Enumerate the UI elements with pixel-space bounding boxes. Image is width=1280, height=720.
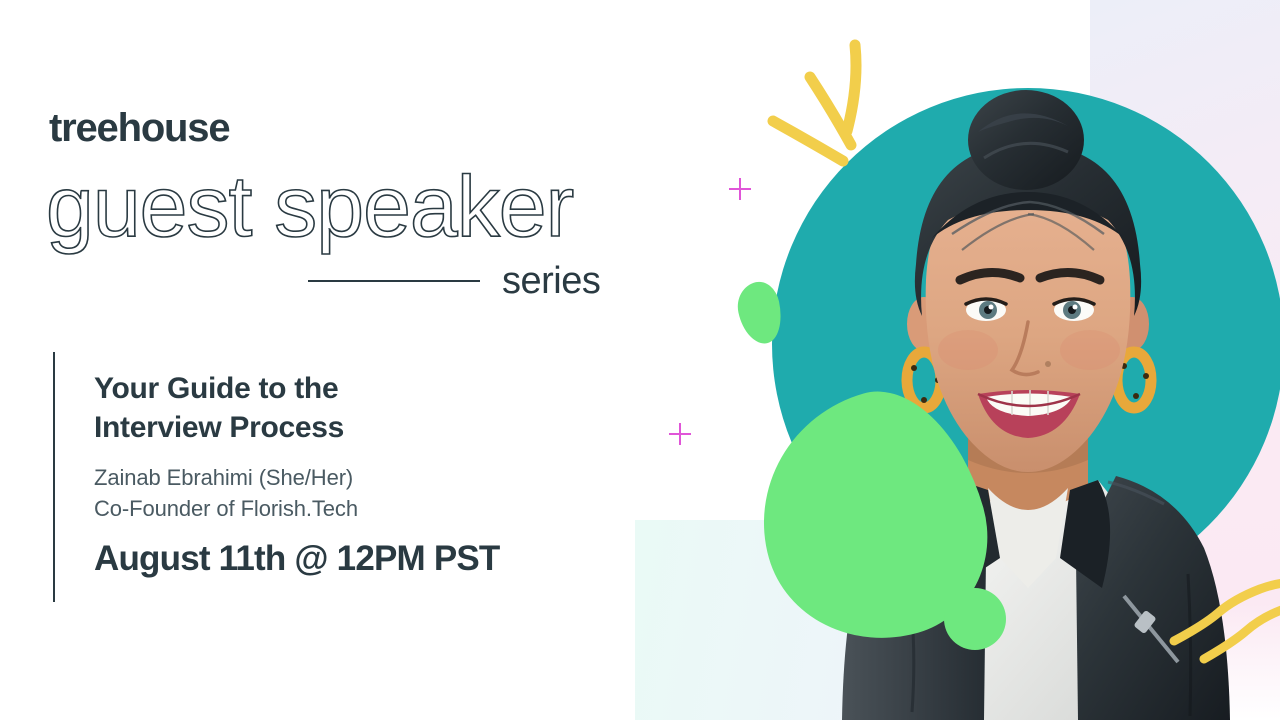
series-divider-rule: [308, 280, 480, 282]
brand-wordmark: treehouse: [49, 108, 229, 148]
talk-title: Your Guide to the Interview Process: [94, 369, 500, 447]
session-info-text: Your Guide to the Interview Process Zain…: [55, 352, 500, 602]
session-info-block: Your Guide to the Interview Process Zain…: [53, 352, 500, 602]
event-datetime: August 11th @ 12PM PST: [94, 540, 500, 579]
series-label-row: series: [308, 258, 638, 304]
headline-outline-text: guest speaker: [40, 158, 660, 258]
svg-text:guest speaker: guest speaker: [46, 159, 574, 255]
guest-speaker-promo-graphic: treehouse guest speaker series Your Guid…: [0, 0, 1280, 720]
plus-cross-icon-top: [729, 178, 751, 200]
sparkle-burst-icon: [755, 35, 895, 175]
speaker-role: Co-Founder of Florish.Tech: [94, 493, 500, 524]
green-circle-shape: [944, 588, 1006, 650]
series-word: series: [502, 262, 600, 300]
wavy-line-icon: [1160, 575, 1280, 670]
plus-cross-icon-bottom: [669, 423, 691, 445]
speaker-name: Zainab Ebrahimi (She/Her): [94, 462, 500, 493]
